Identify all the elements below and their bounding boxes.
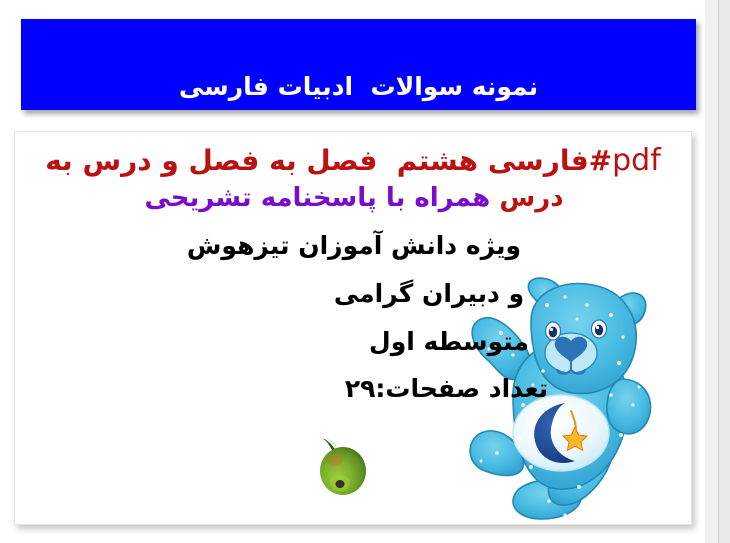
page-text-block: pdf#فارسی هشتم فصل به فصل و درس به درس ه… xyxy=(15,132,692,404)
page-count-value: ۲۹ xyxy=(345,374,376,403)
subheadline-purple-text: همراه با پاسخنامه تشریحی xyxy=(144,183,490,213)
content-page-card: pdf#فارسی هشتم فصل به فصل و درس به درس ه… xyxy=(14,131,692,525)
subheadline-line: درس همراه با پاسخنامه تشریحی xyxy=(15,182,692,215)
headline-red-text: #فارسی هشتم فصل به فصل و درس به xyxy=(45,144,612,177)
slide-canvas: نمونه سوالات ادبیات فارسی xyxy=(0,0,730,543)
audience-line-students: ویژه دانش آموزان تیزهوش xyxy=(15,232,692,261)
grade-level-line: متوسطه اول xyxy=(15,328,692,357)
page-count-label: تعداد صفحات: xyxy=(375,374,548,403)
green-olive-illustration xyxy=(313,429,373,499)
title-banner: نمونه سوالات ادبیات فارسی xyxy=(21,19,696,110)
banner-title: نمونه سوالات ادبیات فارسی xyxy=(179,72,538,110)
subheadline-red-word: درس xyxy=(499,183,563,213)
viewer-right-gutter xyxy=(718,0,730,543)
page-inner: pdf#فارسی هشتم فصل به فصل و درس به درس ه… xyxy=(15,132,691,524)
page-count-line: تعداد صفحات:۲۹ xyxy=(15,375,692,404)
audience-line-teachers: و دبیران گرامی xyxy=(15,280,692,309)
headline-red-line: pdf#فارسی هشتم فصل به فصل و درس به xyxy=(15,143,692,180)
viewer-scroll-track[interactable] xyxy=(705,0,719,543)
pdf-label: pdf xyxy=(612,143,661,178)
